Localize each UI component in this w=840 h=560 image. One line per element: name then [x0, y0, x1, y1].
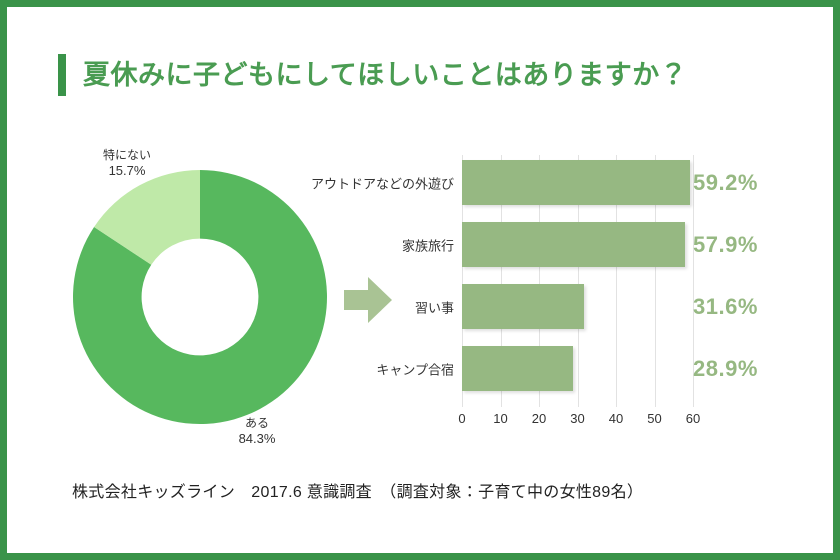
x-axis-tick: 40	[609, 411, 623, 426]
x-axis-tick: 50	[647, 411, 661, 426]
page-title: 夏休みに子どもにしてほしいことはありますか？	[58, 52, 687, 98]
x-axis-tick: 20	[532, 411, 546, 426]
title-accent-bar	[58, 54, 66, 96]
infographic-slide: 夏休みに子どもにしてほしいことはありますか？ 特にない 15.7% ある 84.…	[0, 0, 840, 560]
donut-chart	[70, 168, 330, 426]
bar-row: キャンプ合宿28.9%	[462, 346, 693, 391]
bar-category-label: 習い事	[415, 297, 454, 316]
bar-value-label: 59.2%	[693, 170, 758, 196]
donut-chart-svg	[70, 168, 330, 426]
bar-value-label: 28.9%	[693, 356, 758, 382]
bar	[462, 222, 685, 267]
donut-label-nothing: 特にない 15.7%	[72, 148, 182, 179]
x-axis-tick: 10	[493, 411, 507, 426]
bar-chart: アウトドアなどの外遊び59.2%家族旅行57.9%習い事31.6%キャンプ合宿2…	[300, 150, 800, 425]
bar-row: 習い事31.6%	[462, 284, 693, 329]
bar-row: 家族旅行57.9%	[462, 222, 693, 267]
title-text: 夏休みに子どもにしてほしいことはありますか？	[83, 62, 687, 89]
bar-row: アウトドアなどの外遊び59.2%	[462, 160, 693, 205]
donut-label-have-value: 84.3%	[202, 431, 312, 447]
bar-category-label: 家族旅行	[402, 235, 454, 254]
bar	[462, 284, 584, 329]
bar-chart-plot-area: アウトドアなどの外遊び59.2%家族旅行57.9%習い事31.6%キャンプ合宿2…	[462, 155, 693, 407]
donut-label-have: ある 84.3%	[202, 416, 312, 447]
source-footer: 株式会社キッズライン 2017.6 意識調査 （調査対象：子育て中の女性89名）	[72, 478, 643, 502]
bar	[462, 160, 690, 205]
bar	[462, 346, 573, 391]
donut-label-have-name: ある	[202, 416, 312, 431]
donut-label-nothing-name: 特にない	[72, 148, 182, 163]
bar-value-label: 57.9%	[693, 232, 758, 258]
bar-value-label: 31.6%	[693, 294, 758, 320]
x-axis-tick: 0	[458, 411, 465, 426]
x-axis-tick: 60	[686, 411, 700, 426]
bar-category-label: アウトドアなどの外遊び	[311, 173, 454, 192]
donut-label-nothing-value: 15.7%	[72, 163, 182, 179]
bar-category-label: キャンプ合宿	[376, 359, 454, 378]
x-axis-tick: 30	[570, 411, 584, 426]
